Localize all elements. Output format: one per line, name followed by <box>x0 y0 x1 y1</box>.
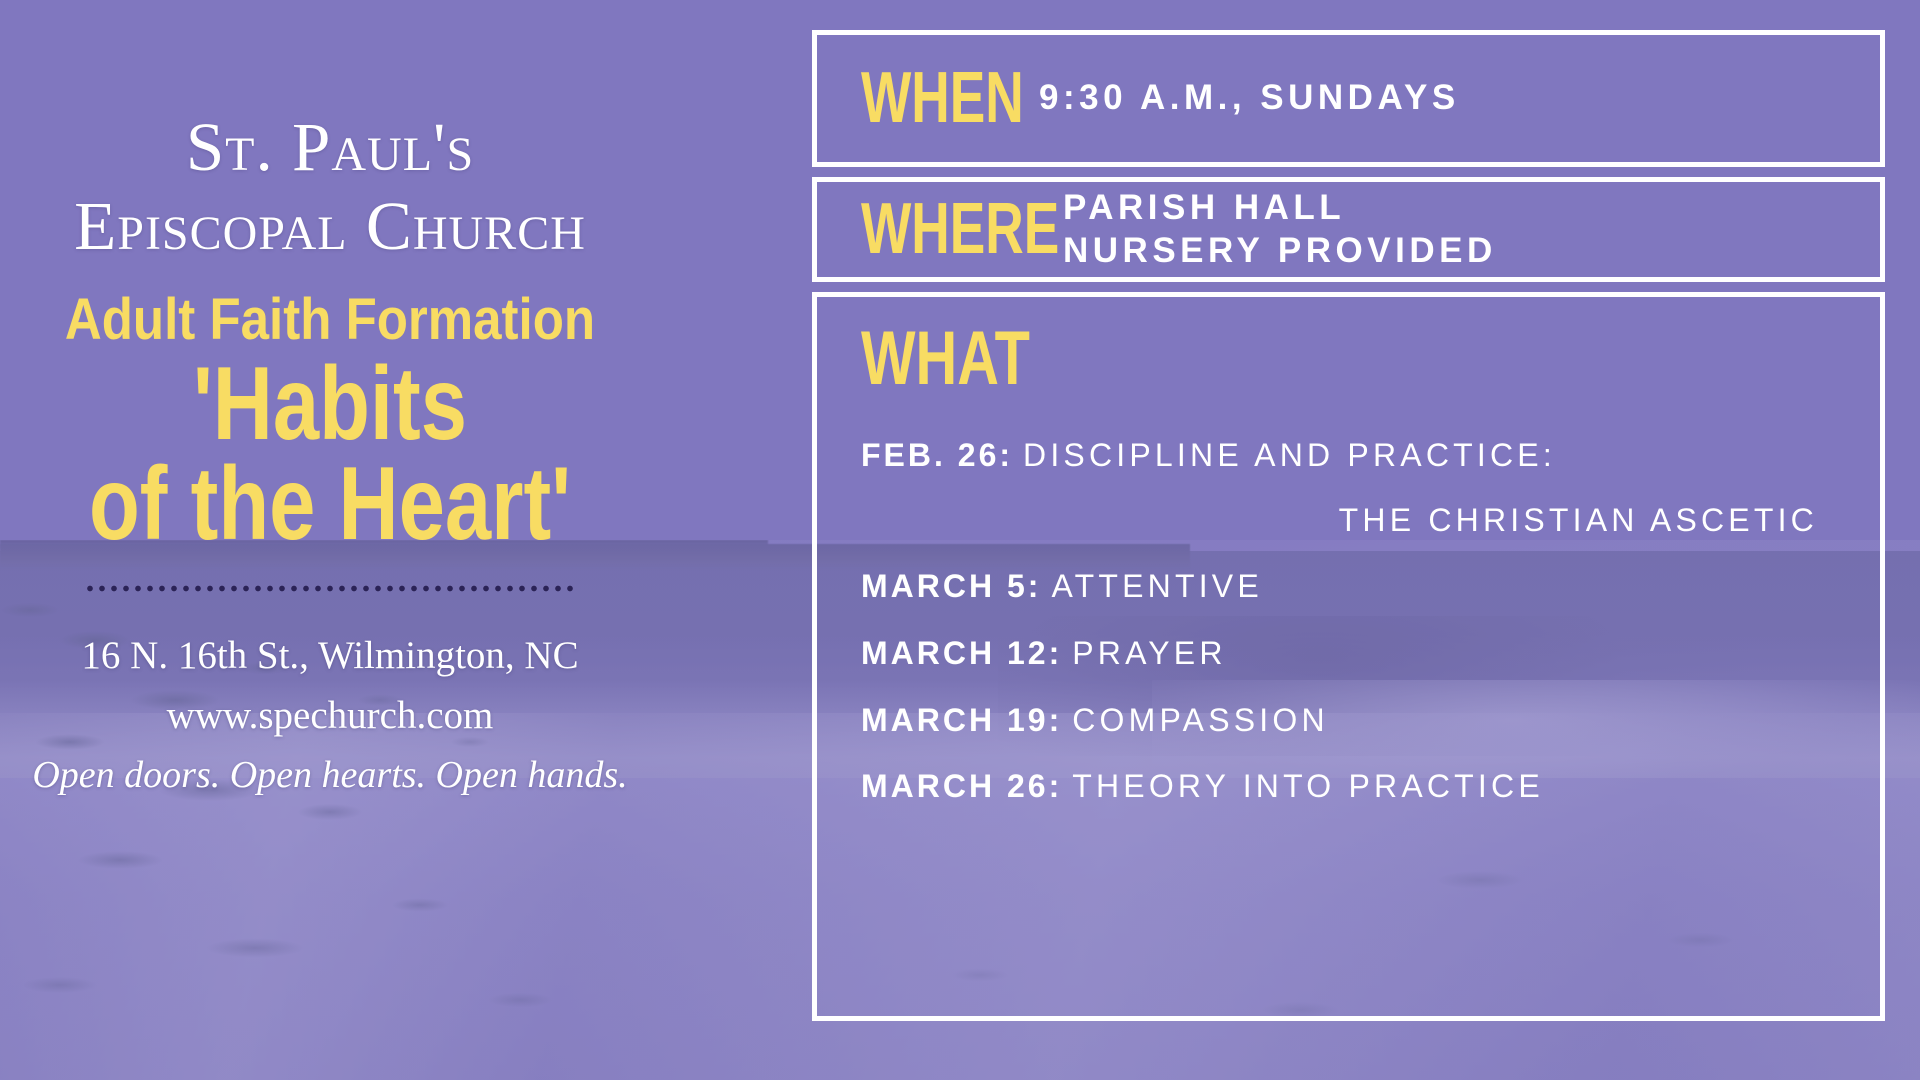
schedule-topic: DISCIPLINE AND PRACTICE: <box>1023 437 1556 473</box>
when-value: 9:30 A.M., SUNDAYS <box>1039 77 1460 120</box>
schedule-item: MARCH 26:THEORY INTO PRACTICE <box>861 754 1834 819</box>
series-title: 'Habits of the Heart' <box>66 355 594 555</box>
schedule-item: MARCH 5:ATTENTIVE <box>861 554 1834 619</box>
schedule-item: MARCH 19:COMPASSION <box>861 688 1834 753</box>
schedule-line: FEB. 26:DISCIPLINE AND PRACTICE: <box>861 423 1834 488</box>
where-label: WHERE <box>861 196 1059 262</box>
dotted-divider <box>84 585 576 592</box>
when-row: WHEN 9:30 A.M., SUNDAYS <box>817 35 1880 162</box>
schedule-line: MARCH 12:PRAYER <box>861 621 1834 686</box>
what-box: WHAT FEB. 26:DISCIPLINE AND PRACTICE:THE… <box>812 292 1885 1021</box>
where-value: PARISH HALL NURSERY PROVIDED <box>1063 187 1497 272</box>
when-label: WHEN <box>861 65 1024 131</box>
what-inner: WHAT FEB. 26:DISCIPLINE AND PRACTICE:THE… <box>817 297 1880 1016</box>
where-box: WHERE PARISH HALL NURSERY PROVIDED <box>812 177 1885 282</box>
church-name-line-2: Episcopal Church <box>0 187 660 266</box>
church-name-line-1: St. Paul's <box>186 109 474 185</box>
schedule-line: MARCH 26:THEORY INTO PRACTICE <box>861 754 1834 819</box>
schedule-date: MARCH 26: <box>861 768 1062 804</box>
schedule-date: MARCH 19: <box>861 702 1062 738</box>
schedule-topic: THEORY INTO PRACTICE <box>1072 768 1544 804</box>
left-identity-column: St. Paul's Episcopal Church Adult Faith … <box>0 0 660 1080</box>
schedule-date: MARCH 12: <box>861 635 1062 671</box>
series-title-line-1: 'Habits <box>66 355 594 455</box>
series-kicker: Adult Faith Formation <box>40 291 621 349</box>
schedule-topic-continuation: THE CHRISTIAN ASCETIC <box>861 488 1834 553</box>
when-box: WHEN 9:30 A.M., SUNDAYS <box>812 30 1885 167</box>
schedule-list: FEB. 26:DISCIPLINE AND PRACTICE:THE CHRI… <box>861 423 1834 819</box>
church-tagline: Open doors. Open hearts. Open hands. <box>0 753 660 797</box>
website-url[interactable]: www.spechurch.com <box>0 686 660 746</box>
contact-block: 16 N. 16th St., Wilmington, NC www.spech… <box>0 626 660 747</box>
schedule-topic: ATTENTIVE <box>1051 568 1262 604</box>
schedule-line: MARCH 19:COMPASSION <box>861 688 1834 753</box>
info-boxes: WHEN 9:30 A.M., SUNDAYS WHERE PARISH HAL… <box>812 30 1885 1031</box>
schedule-line: MARCH 5:ATTENTIVE <box>861 554 1834 619</box>
schedule-topic: COMPASSION <box>1072 702 1329 738</box>
schedule-item: MARCH 12:PRAYER <box>861 621 1834 686</box>
schedule-date: FEB. 26: <box>861 437 1013 473</box>
church-name: St. Paul's Episcopal Church <box>0 108 660 265</box>
where-row: WHERE PARISH HALL NURSERY PROVIDED <box>817 182 1880 277</box>
series-title-line-2: of the Heart' <box>66 455 594 555</box>
what-label: WHAT <box>861 323 1600 395</box>
street-address: 16 N. 16th St., Wilmington, NC <box>0 626 660 686</box>
event-flyer: St. Paul's Episcopal Church Adult Faith … <box>0 0 1920 1080</box>
schedule-item: FEB. 26:DISCIPLINE AND PRACTICE:THE CHRI… <box>861 423 1834 552</box>
schedule-topic: PRAYER <box>1072 635 1226 671</box>
schedule-date: MARCH 5: <box>861 568 1041 604</box>
